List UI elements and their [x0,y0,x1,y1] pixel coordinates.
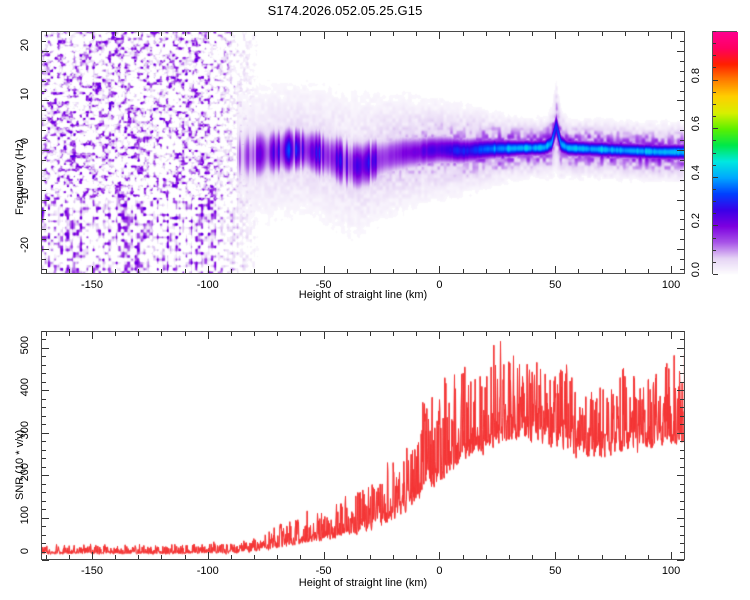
axis-tick [463,555,464,559]
colorbar-minor-tick [713,262,716,263]
axis-tick [42,219,46,220]
axis-tick [42,249,49,250]
axis-tick [602,269,603,273]
y-tick-label: 10 [19,88,31,112]
axis-tick [208,332,209,339]
colorbar-minor-tick [713,165,716,166]
axis-tick [680,140,684,141]
colorbar-tick [713,80,718,81]
axis-tick [42,71,46,72]
axis-tick [486,269,487,273]
axis-tick [42,51,49,52]
axis-tick [42,492,46,493]
y-tick-label: 400 [19,378,31,402]
axis-tick [300,555,301,559]
axis-tick [463,332,464,336]
axis-tick [231,269,232,273]
axis-tick [680,535,684,536]
axis-tick [677,150,684,151]
axis-tick [625,555,626,559]
axis-tick [680,41,684,42]
axis-tick [625,332,626,336]
axis-tick [138,32,139,36]
axis-tick [277,555,278,559]
axis-tick [42,259,46,260]
axis-tick [42,458,46,459]
axis-tick [677,200,684,201]
axis-tick [254,555,255,559]
axis-tick [69,332,70,336]
axis-tick [42,269,46,270]
axis-tick [677,560,684,561]
axis-tick [42,41,46,42]
snr-plot-area [42,332,684,559]
axis-tick [680,331,684,332]
axis-tick [161,32,162,36]
axis-tick [532,555,533,559]
axis-tick [509,32,510,36]
colorbar-minor-tick [713,92,716,93]
axis-tick [416,32,417,36]
axis-tick [677,51,684,52]
axis-tick [625,269,626,273]
axis-tick [677,390,684,391]
axis-tick [42,120,46,121]
colorbar-gradient [713,32,738,275]
axis-tick [671,32,672,39]
axis-tick [185,332,186,336]
axis-tick [578,555,579,559]
axis-tick [680,467,684,468]
axis-tick [42,450,46,451]
axis-tick [46,332,47,336]
axis-tick [555,32,556,39]
axis-tick [42,407,46,408]
colorbar-minor-tick [713,250,716,251]
axis-tick [254,32,255,36]
axis-tick [671,266,672,273]
y-tick-label: 100 [19,506,31,530]
axis-tick [42,61,46,62]
axis-tick [42,441,46,442]
spectrogram-panel [41,31,685,274]
axis-tick [680,526,684,527]
axis-tick [115,32,116,36]
axis-tick [115,269,116,273]
axis-tick [393,32,394,36]
axis-tick [680,441,684,442]
axis-tick [680,61,684,62]
axis-tick [42,348,49,349]
axis-tick [42,560,49,561]
axis-tick [42,467,46,468]
axis-tick [42,160,46,161]
axis-tick [648,555,649,559]
colorbar-minor-tick [713,43,716,44]
axis-tick [42,382,46,383]
axis-tick [42,100,49,101]
axis-tick [42,424,46,425]
axis-tick [680,407,684,408]
y-tick-label: 0 [19,548,31,572]
axis-tick [648,269,649,273]
colorbar-minor-tick [713,55,716,56]
x-tick-label: -150 [81,565,103,577]
axis-tick [42,518,49,519]
axis-tick [680,365,684,366]
axis-tick [347,269,348,273]
axis-tick [680,509,684,510]
axis-tick [208,552,209,559]
axis-tick [42,501,46,502]
axis-tick [42,552,46,553]
axis-tick [393,269,394,273]
axis-tick [254,332,255,336]
colorbar-minor-tick [713,189,716,190]
axis-tick [92,32,93,39]
colorbar-tick-label: 0.8 [690,68,702,92]
x-tick-label: 100 [662,565,680,577]
axis-tick [42,81,46,82]
axis-tick [680,269,684,270]
axis-tick [463,32,464,36]
axis-tick [138,332,139,336]
axis-tick [486,32,487,36]
axis-tick [324,552,325,559]
axis-tick [69,269,70,273]
axis-tick [680,259,684,260]
axis-tick [42,140,46,141]
axis-tick [92,266,93,273]
axis-tick [324,32,325,39]
axis-tick [115,332,116,336]
axis-tick [677,475,684,476]
axis-tick [69,32,70,36]
axis-tick [680,81,684,82]
axis-tick [138,555,139,559]
axis-tick [42,535,46,536]
axis-tick [347,32,348,36]
axis-tick [42,416,46,417]
axis-tick [680,110,684,111]
axis-tick [115,555,116,559]
axis-tick [42,239,46,240]
axis-tick [677,348,684,349]
figure-title: S174.2026.052.05.25.G15 [0,3,690,18]
axis-tick [416,332,417,336]
axis-tick [671,332,672,339]
axis-tick [439,332,440,339]
axis-tick [602,32,603,36]
axis-tick [42,509,46,510]
axis-tick [42,170,46,171]
axis-tick [46,269,47,273]
axis-tick [680,71,684,72]
axis-tick [42,200,49,201]
axis-tick [300,332,301,336]
axis-tick [277,32,278,36]
colorbar-minor-tick [713,201,716,202]
axis-tick [439,552,440,559]
axis-tick [161,332,162,336]
axis-tick [671,552,672,559]
axis-tick [602,332,603,336]
axis-tick [532,32,533,36]
axis-tick [300,269,301,273]
axis-tick [532,332,533,336]
axis-tick [680,91,684,92]
axis-tick [231,555,232,559]
axis-tick [680,416,684,417]
axis-tick [370,555,371,559]
axis-tick [680,210,684,211]
axis-tick [254,269,255,273]
axis-tick [677,518,684,519]
axis-tick [509,332,510,336]
axis-tick [208,266,209,273]
axis-tick [277,269,278,273]
colorbar-tick-label: 0.6 [690,116,702,140]
axis-tick [680,160,684,161]
axis-tick [463,269,464,273]
axis-tick [602,555,603,559]
axis-tick [416,269,417,273]
axis-tick [347,332,348,336]
axis-tick [42,180,46,181]
axis-tick [555,552,556,559]
axis-tick [393,555,394,559]
axis-tick [46,32,47,36]
axis-tick [208,32,209,39]
colorbar-minor-tick [713,31,716,32]
axis-tick [532,269,533,273]
snr-panel [41,331,685,560]
axis-tick [277,332,278,336]
axis-tick [324,332,325,339]
axis-tick [42,433,49,434]
axis-tick [680,492,684,493]
axis-tick [680,229,684,230]
colorbar-tick [713,177,718,178]
axis-tick [677,249,684,250]
x-tick-label: 0 [436,565,442,577]
colorbar-minor-tick [713,140,716,141]
axis-tick [185,555,186,559]
y-tick-label: 500 [19,336,31,360]
axis-tick [42,339,46,340]
axis-tick [231,332,232,336]
colorbar-minor-tick [713,104,716,105]
axis-tick [578,32,579,36]
axis-tick [680,356,684,357]
axis-tick [677,433,684,434]
axis-tick [92,332,93,339]
axis-tick [680,552,684,553]
axis-tick [347,555,348,559]
axis-tick [370,32,371,36]
axis-tick [680,399,684,400]
axis-tick [680,501,684,502]
axis-tick [509,555,510,559]
y-tick-label: -20 [19,237,31,261]
axis-tick [439,32,440,39]
axis-tick [680,373,684,374]
axis-tick [161,555,162,559]
colorbar-minor-tick [713,238,716,239]
axis-tick [92,552,93,559]
axis-tick [69,555,70,559]
axis-tick [680,190,684,191]
axis-tick [324,266,325,273]
axis-tick [42,331,46,332]
axis-tick [46,555,47,559]
colorbar-tick [713,225,718,226]
axis-tick [370,332,371,336]
x-tick-label: 50 [549,565,561,577]
axis-tick [185,32,186,36]
axis-tick [680,180,684,181]
axis-tick [680,130,684,131]
axis-tick [509,269,510,273]
axis-tick [300,32,301,36]
axis-tick [42,526,46,527]
axis-tick [680,458,684,459]
axis-tick [416,555,417,559]
colorbar-tick-label: 0.0 [690,262,702,286]
axis-tick [680,339,684,340]
axis-tick [680,543,684,544]
snr-x-axis-title: Height of straight line (km) [41,577,685,589]
axis-tick [578,269,579,273]
axis-tick [42,130,46,131]
axis-tick [680,382,684,383]
axis-tick [42,399,46,400]
colorbar-tick-label: 0.4 [690,165,702,189]
spectrogram-y-axis-title: Frequency (Hz) [14,139,26,215]
axis-tick [677,100,684,101]
axis-tick [680,484,684,485]
axis-tick [680,120,684,121]
axis-tick [555,266,556,273]
axis-tick [578,332,579,336]
axis-tick [42,373,46,374]
axis-tick [680,219,684,220]
axis-tick [486,332,487,336]
axis-tick [625,32,626,36]
axis-tick [680,424,684,425]
axis-tick [680,170,684,171]
axis-tick [42,150,49,151]
axis-tick [42,356,46,357]
figure-root: S174.2026.052.05.25.G15 -150-100-5005010… [0,0,750,600]
colorbar-minor-tick [713,213,716,214]
snr-canvas [42,332,684,559]
axis-tick [439,266,440,273]
axis-tick [486,555,487,559]
spectrogram-plot-area [42,32,684,273]
axis-tick [680,31,684,32]
axis-tick [161,269,162,273]
axis-tick [680,239,684,240]
axis-tick [42,229,46,230]
axis-tick [42,475,49,476]
axis-tick [42,484,46,485]
axis-tick [42,110,46,111]
colorbar-minor-tick [713,67,716,68]
axis-tick [648,32,649,36]
spectrogram-x-axis-title: Height of straight line (km) [41,289,685,301]
axis-tick [42,365,46,366]
axis-tick [555,332,556,339]
axis-tick [42,390,49,391]
axis-tick [393,332,394,336]
axis-tick [42,190,46,191]
axis-tick [42,543,46,544]
spectrogram-canvas [42,32,684,273]
axis-tick [185,269,186,273]
axis-tick [42,210,46,211]
axis-tick [42,31,46,32]
colorbar-minor-tick [713,153,716,154]
axis-tick [370,269,371,273]
x-tick-label: -50 [316,565,332,577]
x-tick-label: -100 [197,565,219,577]
axis-tick [680,450,684,451]
colorbar-tick-label: 0.2 [690,213,702,237]
axis-tick [648,332,649,336]
y-tick-label: 20 [19,39,31,63]
axis-tick [42,91,46,92]
axis-tick [138,269,139,273]
colorbar-minor-tick [713,116,716,117]
snr-y-axis-title: SNR (10 * v/v) [14,430,26,500]
colorbar-tick [713,128,718,129]
colorbar-tick [713,274,718,275]
axis-tick [231,32,232,36]
